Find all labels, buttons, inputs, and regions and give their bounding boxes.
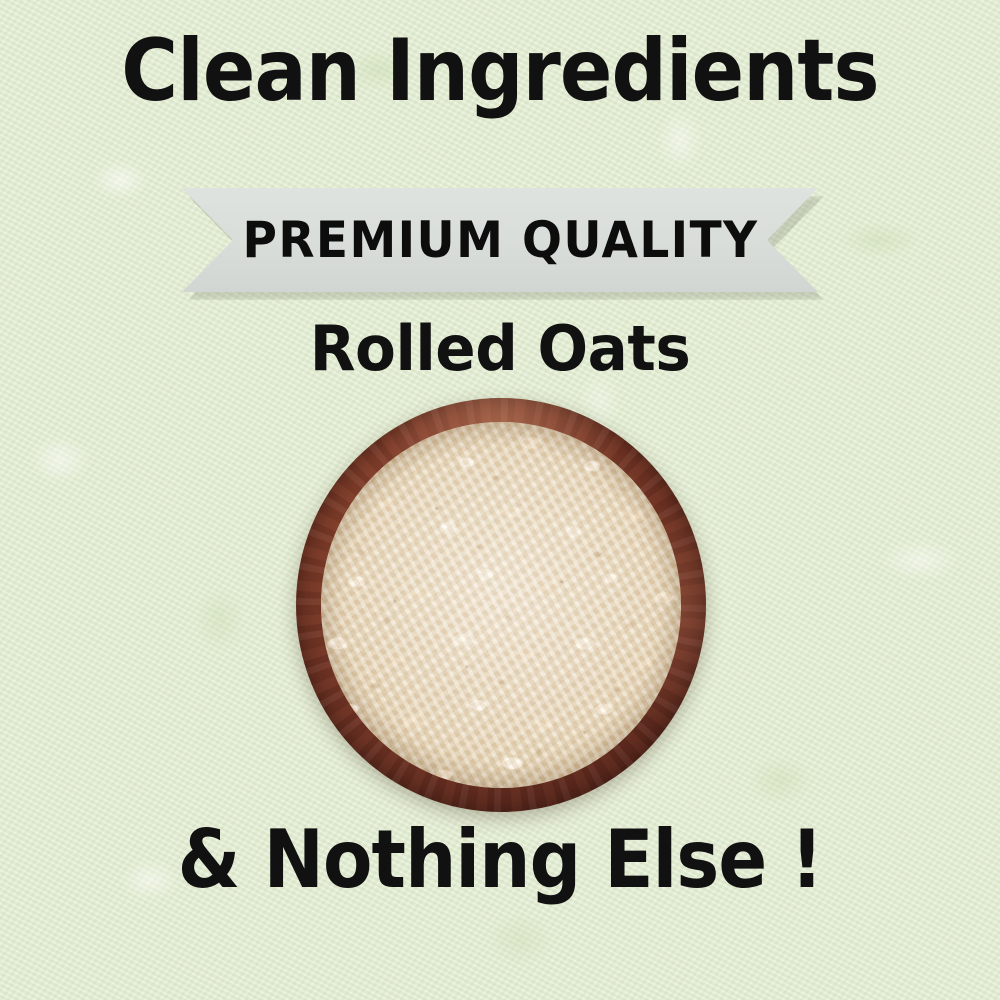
oat-pile-shading <box>321 422 681 788</box>
oat-flakes <box>321 422 681 788</box>
tagline: & Nothing Else ! <box>50 820 950 900</box>
page-title: Clean Ingredients <box>50 28 950 114</box>
product-poster: Clean Ingredients PREMIUM QUALITY Rolled… <box>0 0 1000 1000</box>
ribbon-banner: PREMIUM QUALITY <box>182 188 818 292</box>
premium-quality-badge: PREMIUM QUALITY <box>182 188 818 292</box>
product-name: Rolled Oats <box>20 318 980 380</box>
oats-bowl-image <box>296 398 706 812</box>
status-badge: PREMIUM QUALITY <box>242 211 758 269</box>
